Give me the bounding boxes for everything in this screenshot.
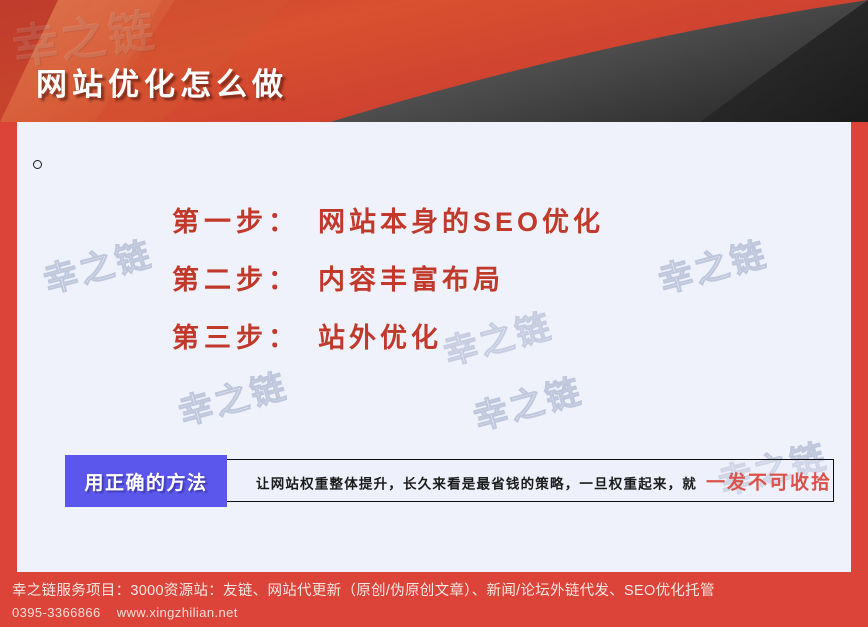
footer-contact-line: 0395-3366866 www.xingzhilian.net <box>12 603 868 623</box>
callout-body-text: 让网站权重整体提升，长久来看是最省钱的策略，一旦权重起来，就 <box>256 472 697 492</box>
list-item: 第一步： 网站本身的SEO优化 <box>17 200 851 239</box>
callout-row: 让网站权重整体提升，长久来看是最省钱的策略，一旦权重起来，就 一发不可收拾 用正… <box>48 455 834 507</box>
callout-highlight-text: 一发不可收拾 <box>706 467 832 494</box>
brand-watermark: 幸之链 <box>468 363 588 439</box>
callout-text-content: 让网站权重整体提升，长久来看是最省钱的策略，一旦权重起来，就 一发不可收拾 <box>256 467 832 494</box>
list-item: 第二步： 内容丰富布局 <box>17 258 851 297</box>
footer-website[interactable]: www.xingzhilian.net <box>117 605 238 620</box>
callout-badge: 用正确的方法 <box>65 455 227 507</box>
page-title: 网站优化怎么做 <box>36 59 288 104</box>
slide-canvas: 幸之链 网站优化怎么做 幸之链幸之链幸之链幸之链幸之链幸之链 第一步： 网站本身… <box>0 0 868 627</box>
steps-list: 第一步： 网站本身的SEO优化 第二步： 内容丰富布局 第三步： 站外优化 <box>17 200 851 374</box>
callout-badge-label: 用正确的方法 <box>84 468 207 495</box>
header-banner: 幸之链 网站优化怎么做 <box>0 0 868 122</box>
step-label: 第三步： <box>172 316 300 355</box>
step-label: 第二步： <box>172 258 300 297</box>
footer-services-text: 幸之链服务项目：3000资源站：友链、网站代更新（原创/伪原创文章）、新闻/论坛… <box>12 580 868 602</box>
footer-phone: 0395-3366866 <box>12 605 101 620</box>
callout-text-box: 让网站权重整体提升，长久来看是最省钱的策略，一旦权重起来，就 一发不可收拾 <box>225 459 834 502</box>
step-text: 站外优化 <box>318 316 442 355</box>
step-label: 第一步： <box>172 200 300 239</box>
footer: 幸之链服务项目：3000资源站：友链、网站代更新（原创/伪原创文章）、新闻/论坛… <box>0 572 868 627</box>
list-item: 第三步： 站外优化 <box>17 316 851 355</box>
step-text: 网站本身的SEO优化 <box>318 200 604 239</box>
step-text: 内容丰富布局 <box>318 258 504 297</box>
content-panel: 幸之链幸之链幸之链幸之链幸之链幸之链 第一步： 网站本身的SEO优化 第二步： … <box>17 122 851 572</box>
circle-bullet-icon <box>33 160 42 169</box>
